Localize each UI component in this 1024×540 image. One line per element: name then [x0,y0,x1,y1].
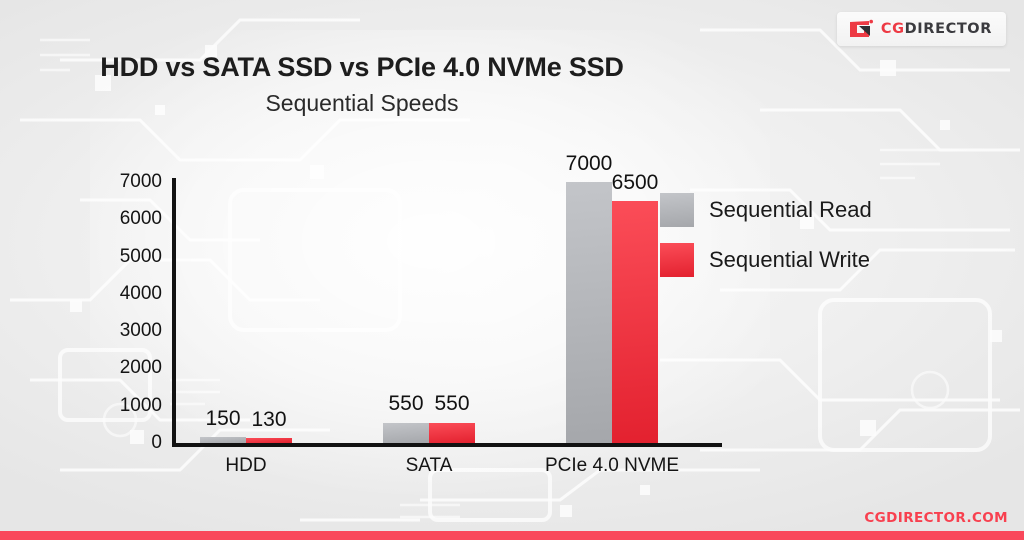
bar-value-label: 6500 [612,171,659,195]
x-axis-label-hdd: HDD [225,455,266,477]
bar-value-label: 130 [251,408,286,432]
chart-legend: Sequential ReadSequential Write [660,193,872,277]
bar-value-label: 550 [434,392,469,416]
y-axis-tick: 5000 [92,246,162,268]
legend-label: Sequential Write [709,247,870,273]
bottom-accent-band [0,531,1024,540]
bar-hdd-sequential-write [246,438,292,443]
legend-item-sequential-write[interactable]: Sequential Write [660,243,872,277]
legend-swatch-icon [660,193,694,227]
bar-sata-sequential-write [429,423,475,444]
plot-area: 15013055055070006500 [172,182,722,443]
y-axis-tick: 2000 [92,357,162,379]
bar-pcie-4-0-nvme-sequential-write [612,201,658,443]
bar-hdd-sequential-read [200,437,246,443]
x-axis-label-sata: SATA [406,455,453,477]
legend-label: Sequential Read [709,197,872,223]
y-axis-tick: 7000 [92,171,162,193]
y-axis-tick: 1000 [92,395,162,417]
y-axis-tick: 4000 [92,283,162,305]
y-axis-tick: 6000 [92,208,162,230]
legend-item-sequential-read[interactable]: Sequential Read [660,193,872,227]
bar-sata-sequential-read [383,423,429,444]
bar-value-label: 550 [388,392,423,416]
x-axis-label-pcie-4-0-nvme: PCIe 4.0 NVME [545,455,679,477]
footer-url: CGDIRECTOR.COM [864,510,1008,526]
bar-value-label: 150 [205,407,240,431]
y-axis-tick: 3000 [92,320,162,342]
bar-value-label: 7000 [566,152,613,176]
y-axis-tick: 0 [92,432,162,454]
bar-pcie-4-0-nvme-sequential-read [566,182,612,443]
legend-swatch-icon [660,243,694,277]
x-axis-line [172,443,722,447]
y-axis-tick-labels: 01000200030004000500060007000 [92,182,162,443]
